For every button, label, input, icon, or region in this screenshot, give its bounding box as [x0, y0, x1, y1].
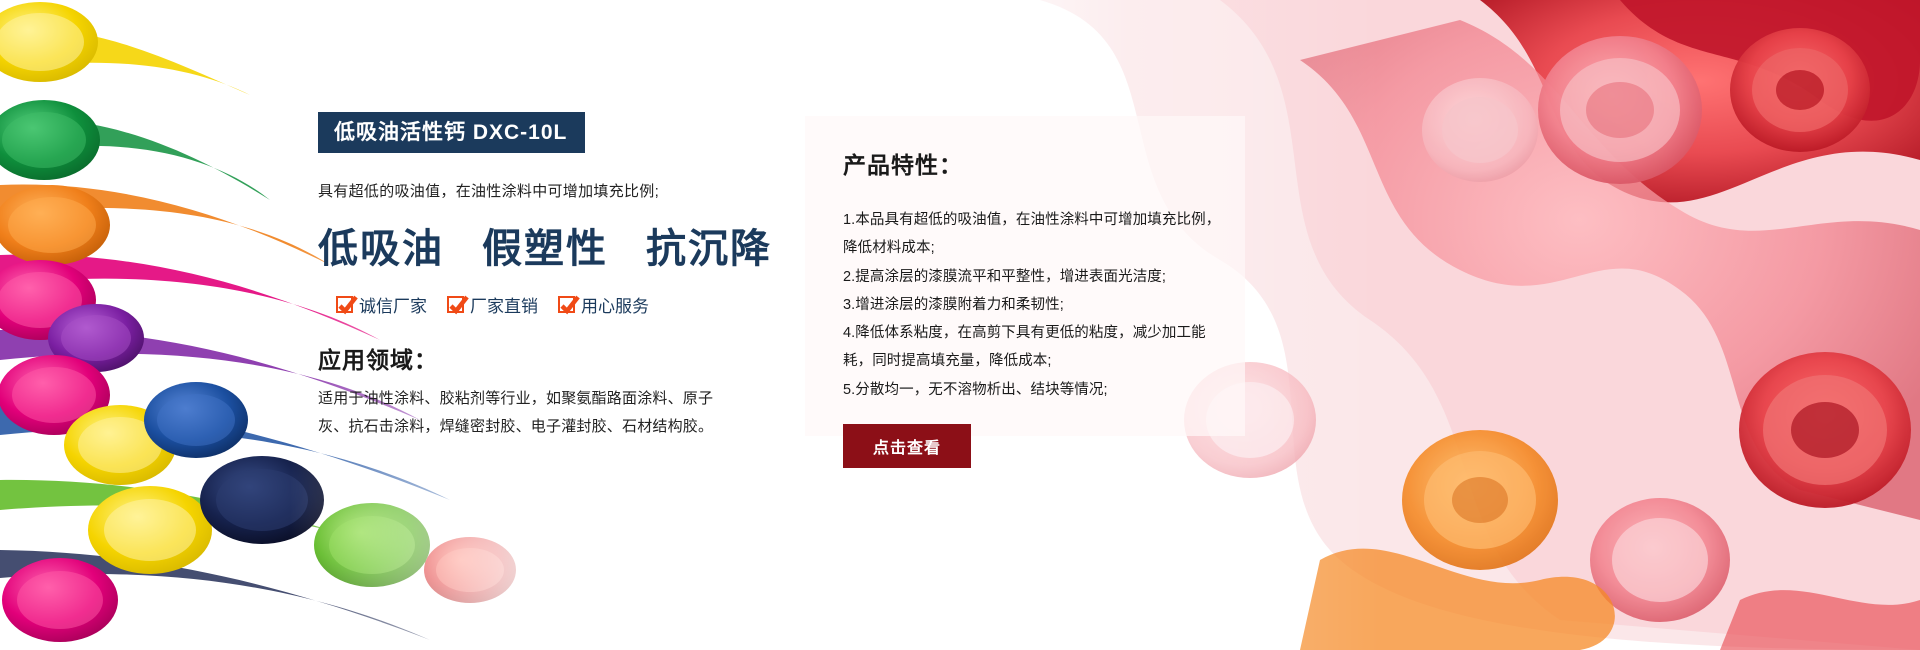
product-title-badge: 低吸油活性钙 DXC-10L: [318, 112, 585, 153]
checkbox-checked-icon: [558, 296, 575, 313]
left-content-column: 低吸油活性钙 DXC-10L 具有超低的吸油值，在油性涂料中可增加填充比例; 低…: [318, 112, 788, 441]
features-list: 1.本品具有超低的吸油值，在油性涂料中可增加填充比例，降低材料成本; 2.提高涂…: [843, 206, 1221, 404]
trust-badge-1: 诚信厂家: [336, 292, 427, 317]
feature-item-3: 3.增进涂层的漆膜附着力和柔韧性;: [843, 291, 1221, 319]
product-features-panel: 产品特性： 1.本品具有超低的吸油值，在油性涂料中可增加填充比例，降低材料成本;…: [805, 116, 1245, 436]
application-section-body: 适用于油性涂料、胶粘剂等行业，如聚氨酯路面涂料、原子灰、抗石击涂料，焊缝密封胶、…: [318, 385, 718, 441]
keyword-2: 假塑性: [482, 226, 608, 271]
checkbox-checked-icon: [336, 296, 353, 313]
trust-badge-3: 用心服务: [558, 292, 649, 317]
keyword-3: 抗沉降: [646, 226, 772, 271]
feature-item-5: 5.分散均一，无不溶物析出、结块等情况;: [843, 376, 1221, 404]
features-panel-title: 产品特性：: [843, 146, 1221, 180]
trust-badges: 诚信厂家 厂家直销 用心服务: [336, 292, 788, 317]
keyword-1: 低吸油: [318, 226, 444, 271]
product-keywords: 低吸油 假塑性 抗沉降: [318, 216, 788, 274]
product-features-inner: 产品特性： 1.本品具有超低的吸油值，在油性涂料中可增加填充比例，降低材料成本;…: [843, 146, 1221, 468]
view-details-button[interactable]: 点击查看: [843, 424, 971, 468]
trust-badge-label: 厂家直销: [470, 292, 538, 317]
trust-badge-label: 诚信厂家: [359, 292, 427, 317]
feature-item-1: 1.本品具有超低的吸油值，在油性涂料中可增加填充比例，降低材料成本;: [843, 206, 1221, 263]
product-banner: 低吸油活性钙 DXC-10L 具有超低的吸油值，在油性涂料中可增加填充比例; 低…: [0, 0, 1920, 650]
application-section-title: 应用领域：: [318, 341, 788, 375]
product-subtitle: 具有超低的吸油值，在油性涂料中可增加填充比例;: [318, 181, 788, 202]
feature-item-4: 4.降低体系粘度，在高剪下具有更低的粘度，减少加工能耗，同时提高填充量，降低成本…: [843, 319, 1221, 376]
checkbox-checked-icon: [447, 296, 464, 313]
trust-badge-label: 用心服务: [581, 292, 649, 317]
feature-item-2: 2.提高涂层的漆膜流平和平整性，增进表面光洁度;: [843, 263, 1221, 291]
trust-badge-2: 厂家直销: [447, 292, 538, 317]
